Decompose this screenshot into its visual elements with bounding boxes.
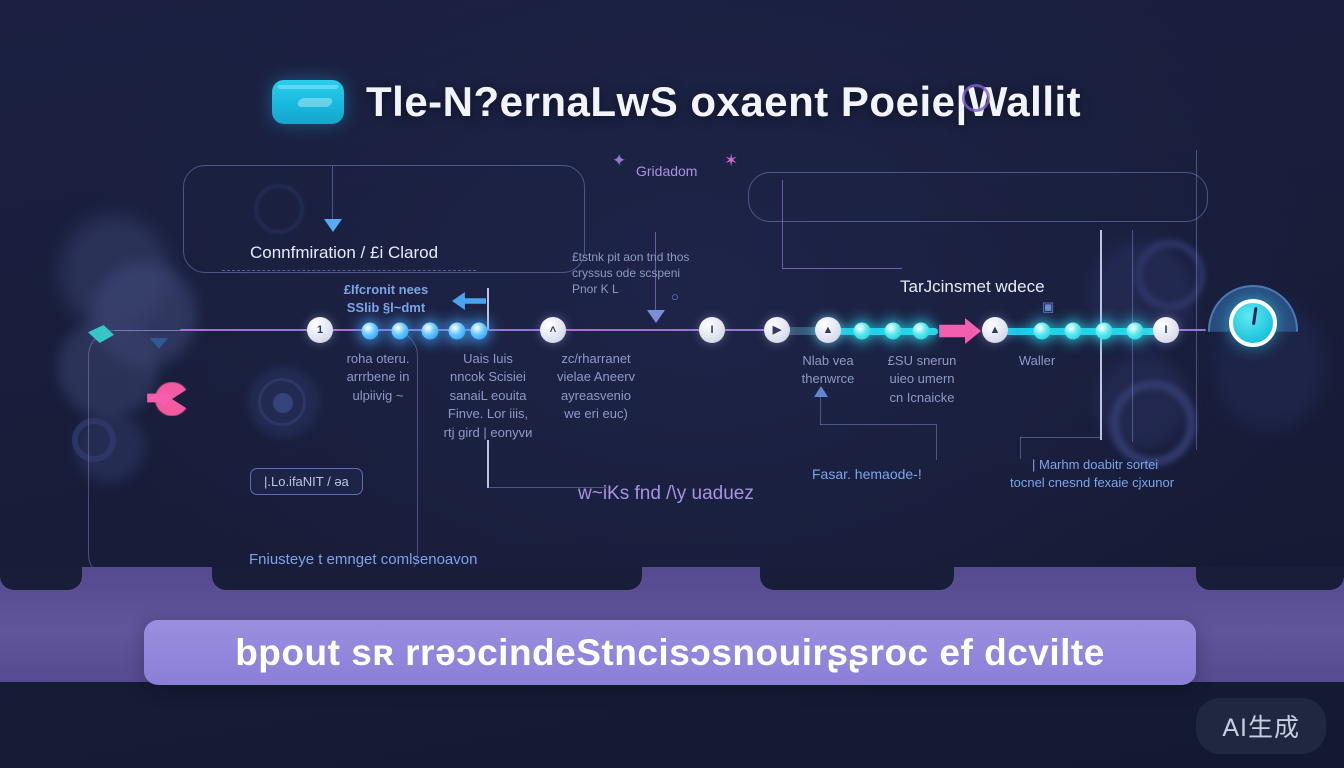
timeline-dot xyxy=(913,323,930,340)
timeline-caption-line: uieo umern xyxy=(888,370,957,388)
status-line1: £tstnk pit aon tnd thos xyxy=(572,250,689,264)
arrow-left-icon xyxy=(452,292,486,310)
timeline-caption: zc/rharranetvielae Aneervayreasveniowe e… xyxy=(557,350,635,424)
timeline-node-4[interactable]: ▶ xyxy=(764,317,790,343)
timeline-caption-line: ayreasvenio xyxy=(557,387,635,405)
timeline-caption-line: cn Icnaicke xyxy=(888,389,957,407)
timeline-segment-violet xyxy=(180,329,325,331)
status-line2: cryssus ode scspeni xyxy=(572,266,680,280)
timeline-caption-line: Finve. Lor iiis, xyxy=(444,405,533,423)
timeline-caption-line: zc/rharranet xyxy=(557,350,635,368)
transmit-label: TarJcinsmet wdece xyxy=(900,277,1045,297)
dove-icon: ✦ xyxy=(612,152,626,169)
timeline-dot xyxy=(1127,323,1144,340)
connector-line xyxy=(820,424,936,425)
timeline-dot xyxy=(885,323,902,340)
connector-line xyxy=(487,288,489,330)
confirmation-sub-line1: £Ifcronit nees xyxy=(344,282,429,297)
timeline-caption-line: Nlab vea xyxy=(802,352,855,370)
timeline-caption-line: nncok Scisiei xyxy=(444,368,533,386)
timeline-caption-line: Waller xyxy=(1019,352,1055,370)
timeline-node-label: I xyxy=(1164,325,1167,336)
footer-banner[interactable]: bpout sʀ rrəɔcindeStncisɔsnouirʂʂroc ef … xyxy=(144,620,1196,685)
timeline-caption: Nlab veathenwrce xyxy=(802,352,855,389)
timeline-node-label: 1 xyxy=(317,325,323,336)
title-decoration-ring xyxy=(962,84,990,112)
timeline-caption: £SU snerunuieo umerncn Icnaicke xyxy=(888,352,957,407)
connector-line xyxy=(936,424,937,460)
decorative-ring xyxy=(1110,380,1196,466)
timeline-segment-cyan xyxy=(1000,328,1172,335)
find-value-label: w~iKs fnd /\y uaduez xyxy=(578,483,754,505)
diagram-canvas: Tle-N?ernaLwS oxaent Poeie|Wallit ✦ Grid… xyxy=(0,0,1344,768)
top-center-label: Gridadom xyxy=(636,163,697,179)
timeline-node-label: ▲ xyxy=(990,325,1001,336)
footer-notch xyxy=(760,567,954,590)
footer-notch xyxy=(1196,567,1344,590)
timeline-node-label: ˄ xyxy=(550,325,556,336)
timeline-dot xyxy=(854,323,871,340)
timeline-node-7[interactable]: I xyxy=(1153,317,1179,343)
timeline-caption: Uais Iuisnncok ScisieisanaiL eouitaFinve… xyxy=(444,350,533,442)
timeline-dot xyxy=(422,323,439,340)
timeline-node-2[interactable]: ˄ xyxy=(540,317,566,343)
right-outline-panel xyxy=(748,172,1208,222)
right-note-line2: tocnel cnesnd fexaie cjxunor xyxy=(1010,475,1174,490)
wallet-icon xyxy=(272,80,344,124)
connector-line xyxy=(820,395,821,425)
connector-line xyxy=(1196,150,1197,450)
timeline-dot xyxy=(1065,323,1082,340)
timeline-caption-line: arrrbene in xyxy=(347,368,410,386)
timeline-caption-line: roha oteru. xyxy=(347,350,410,368)
timeline-caption-line: we eri euc) xyxy=(557,405,635,423)
footer-notch xyxy=(0,567,82,590)
timeline-node-label: ▶ xyxy=(773,325,781,336)
arrow-down-icon xyxy=(324,219,342,232)
decorative-blob xyxy=(1095,355,1190,450)
circle-small-icon: ○ xyxy=(671,290,679,303)
page-title-row: Tle-N?ernaLwS oxaent Poeie|Wallit xyxy=(272,78,1081,126)
timeline-node-label: ▲ xyxy=(823,325,834,336)
arrow-down-icon xyxy=(647,310,665,323)
connector-line xyxy=(487,440,489,488)
timeline-caption-line: sanaiL eouita xyxy=(444,387,533,405)
status-line3: Pnor K L xyxy=(572,282,619,296)
timeline-caption-line: rtj gird | eonyvи xyxy=(444,424,533,442)
decorative-blob xyxy=(60,215,170,330)
timeline-node-label: I xyxy=(710,325,713,336)
timeline-caption-line: Uais Iuis xyxy=(444,350,533,368)
timeline-node-1[interactable]: 1 xyxy=(307,317,333,343)
connector-line xyxy=(1020,437,1102,438)
pink-arrow-icon xyxy=(939,318,981,344)
gauge-icon xyxy=(1208,285,1298,337)
footer-banner-text: bpout sʀ rrəɔcindeStncisɔsnouirʂʂroc ef … xyxy=(235,632,1105,674)
timeline-node-5[interactable]: ▲ xyxy=(815,317,841,343)
timeline-segment-violet xyxy=(556,329,784,331)
timeline-node-3[interactable]: I xyxy=(699,317,725,343)
decorative-ring xyxy=(1135,240,1205,310)
confirmation-sub-line2: SSlib §l~dmt xyxy=(347,300,425,315)
calendar-icon: ▣ xyxy=(1042,300,1054,313)
tag-chip[interactable]: |.Lo.ifaNIT / əa xyxy=(250,468,363,495)
footer-notch xyxy=(212,567,642,590)
connector-line xyxy=(1020,437,1021,459)
timeline-node-6[interactable]: ▲ xyxy=(982,317,1008,343)
timeline-dot xyxy=(362,323,379,340)
fast-handle-label: Fasar. hemaode-! xyxy=(812,466,922,482)
timeline-caption: roha oteru.arrrbene inulpiivig ~ xyxy=(347,350,410,405)
timeline-dot xyxy=(1096,323,1113,340)
connector-line xyxy=(782,268,902,269)
timeline-caption-line: £SU snerun xyxy=(888,352,957,370)
timeline-dot xyxy=(392,323,409,340)
connector-line xyxy=(332,166,333,222)
feature-tagline: Fniusteye t emnget comlsenoavon xyxy=(249,551,477,568)
dashed-connector xyxy=(222,270,476,271)
connector-line xyxy=(782,180,783,268)
timeline-caption-line: ulpiivig ~ xyxy=(347,387,410,405)
spark-icon: ✶ xyxy=(724,152,738,169)
right-note-line1: | Marhm doabitr sortei xyxy=(1032,457,1158,472)
timeline-dot xyxy=(1034,323,1051,340)
timeline-caption-line: thenwrce xyxy=(802,370,855,388)
timeline-dot xyxy=(471,323,488,340)
timeline-caption-line: vielae Aneerv xyxy=(557,368,635,386)
timeline-dot xyxy=(449,323,466,340)
timeline-caption: Waller xyxy=(1019,352,1055,370)
confirmation-label: Connfmiration / £i Clarod xyxy=(250,243,438,263)
ai-watermark: AI生成 xyxy=(1196,698,1326,754)
